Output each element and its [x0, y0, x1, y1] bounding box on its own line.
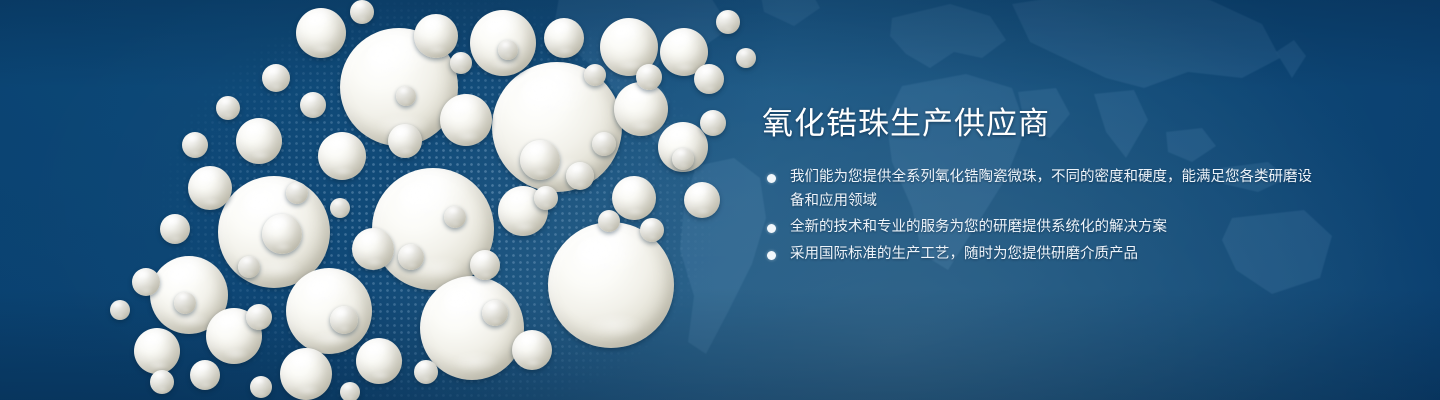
bullet-dot-icon: [767, 224, 776, 233]
list-item: 我们能为您提供全系列氧化锆陶瓷微珠，不同的密度和硬度，能满足您各类研磨设备和应用…: [762, 166, 1322, 213]
list-item: 全新的技术和专业的服务为您的研磨提供系统化的解决方案: [762, 216, 1322, 240]
banner-copy: 氧化锆珠生产供应商 我们能为您提供全系列氧化锆陶瓷微珠，不同的密度和硬度，能满足…: [762, 104, 1322, 269]
list-item-label: 我们能为您提供全系列氧化锆陶瓷微珠，不同的密度和硬度，能满足您各类研磨设备和应用…: [790, 166, 1322, 213]
bullet-dot-icon: [767, 251, 776, 260]
feature-list: 我们能为您提供全系列氧化锆陶瓷微珠，不同的密度和硬度，能满足您各类研磨设备和应用…: [762, 166, 1322, 266]
bullet-dot-icon: [767, 174, 776, 183]
list-item-label: 采用国际标准的生产工艺，随时为您提供研磨介质产品: [790, 243, 1322, 267]
list-item-label: 全新的技术和专业的服务为您的研磨提供系统化的解决方案: [790, 216, 1322, 240]
zirconia-beads-photo: [0, 0, 760, 400]
list-item: 采用国际标准的生产工艺，随时为您提供研磨介质产品: [762, 243, 1322, 267]
page-title: 氧化锆珠生产供应商: [762, 104, 1322, 144]
hero-banner: 氧化锆珠生产供应商 我们能为您提供全系列氧化锆陶瓷微珠，不同的密度和硬度，能满足…: [0, 0, 1440, 400]
